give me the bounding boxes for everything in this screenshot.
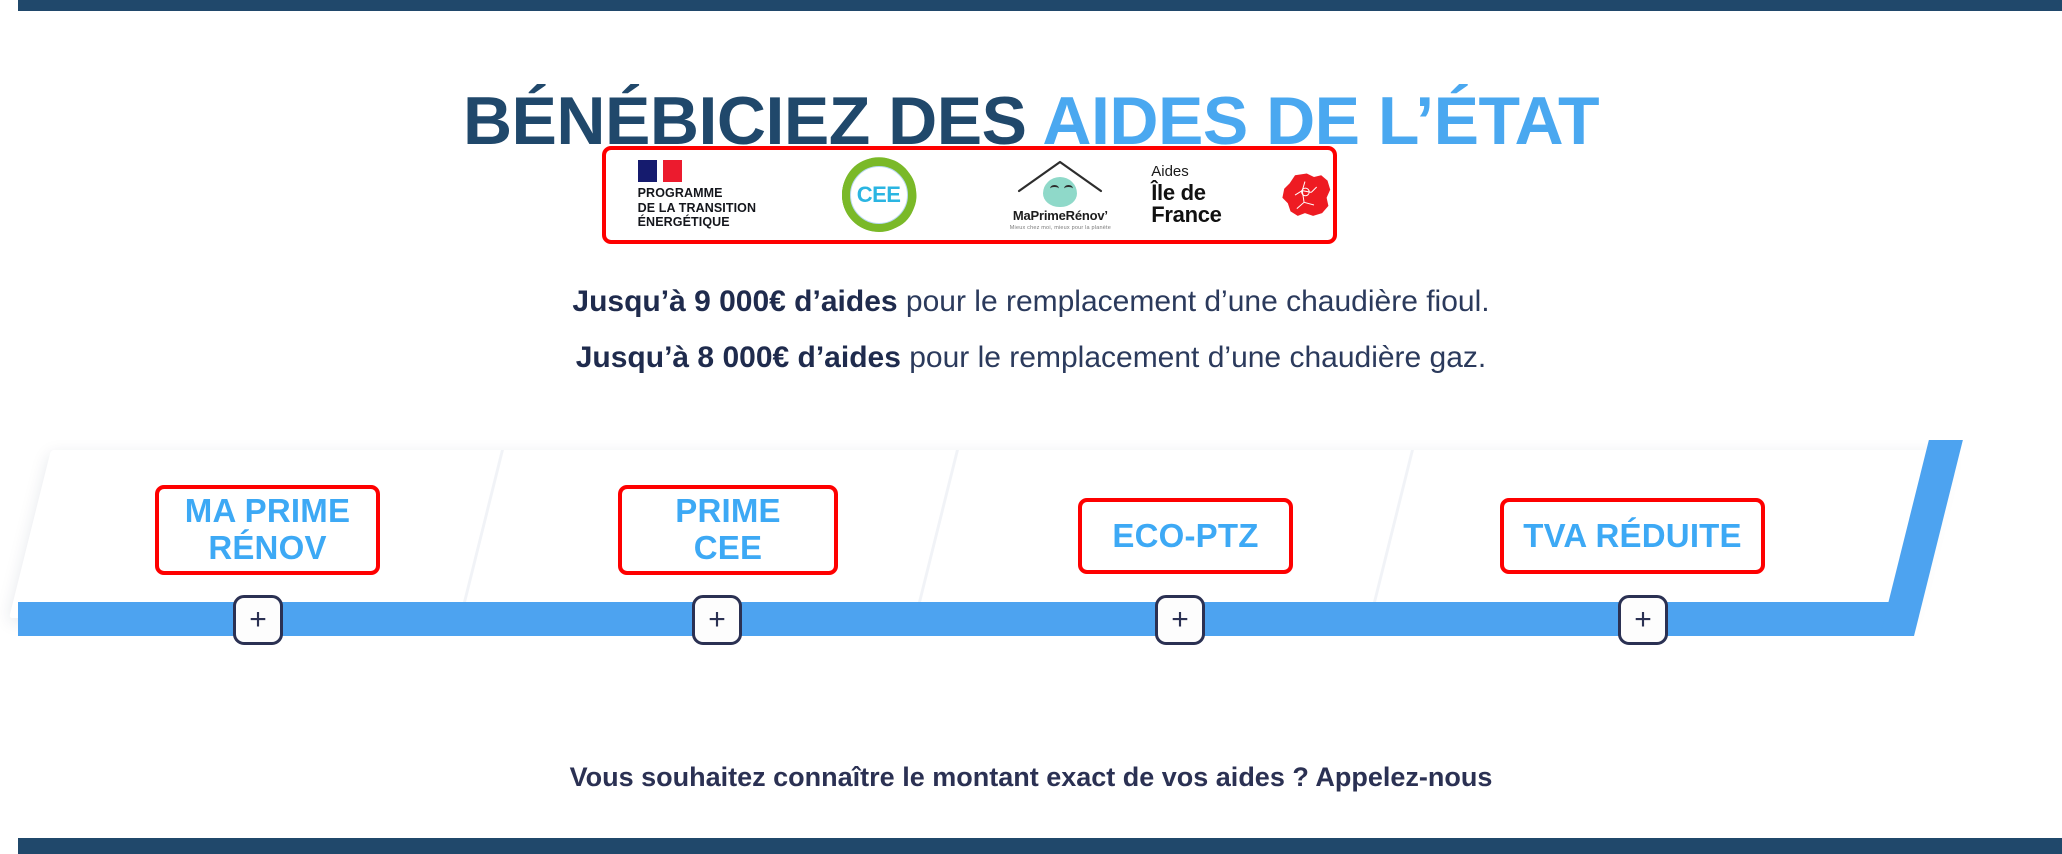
call-to-action-text: Vous souhaitez connaître le montant exac…	[0, 762, 2062, 793]
ile-de-france-map-icon	[1277, 170, 1333, 222]
subtitle-2-rest: pour le remplacement d’une chaudière gaz…	[901, 341, 1486, 374]
logo-maprimerenov: MaPrimeRénov’ Mieux chez moi, mieux pour…	[970, 150, 1152, 240]
aid-card-tva-reduite[interactable]: TVA RÉDUITE	[1500, 498, 1765, 574]
maprimerenov-label: MaPrimeRénov’	[1013, 208, 1108, 223]
logo-cee: CEE	[788, 150, 970, 240]
subtitle-1-rest: pour le remplacement d’une chaudière fio…	[898, 285, 1490, 318]
subtitle-1-amount: Jusqu’à 9 000€ d’aides	[572, 285, 897, 318]
cee-badge-icon: CEE	[842, 158, 916, 232]
aid-card-prime-cee[interactable]: PRIME CEE	[618, 485, 838, 575]
maprimerenov-house-icon	[1017, 159, 1103, 207]
expand-button-tva-reduite[interactable]: +	[1618, 595, 1668, 645]
bottom-divider-bar	[18, 838, 2062, 854]
expand-button-eco-ptz[interactable]: +	[1155, 595, 1205, 645]
logo-aides-ile-de-france: Aides Île de France	[1151, 150, 1333, 240]
expand-button-prime-cee[interactable]: +	[692, 595, 742, 645]
idf-label-small: Aides	[1151, 164, 1269, 179]
idf-label-big: Île de France	[1151, 182, 1269, 226]
subtitle-line-1: Jusqu’à 9 000€ d’aides pour le remplacem…	[0, 285, 2062, 319]
subtitle-line-2: Jusqu’à 8 000€ d’aides pour le remplacem…	[0, 341, 2062, 375]
maprimerenov-tagline: Mieux chez moi, mieux pour la planète	[1010, 225, 1111, 231]
aids-banner: MA PRIME RÉNOV PRIME CEE ECO-PTZ TVA RÉD…	[0, 440, 2062, 665]
cee-label: CEE	[857, 182, 901, 208]
aid-card-eco-ptz[interactable]: ECO-PTZ	[1078, 498, 1293, 574]
top-divider-bar	[18, 0, 2062, 11]
logo-programme-label: PROGRAMME DE LA TRANSITION ÉNERGÉTIQUE	[638, 186, 757, 230]
partner-logos-box: PROGRAMME DE LA TRANSITION ÉNERGÉTIQUE C…	[602, 146, 1337, 244]
subtitle-2-amount: Jusqu’à 8 000€ d’aides	[576, 341, 901, 374]
expand-button-ma-prime-renov[interactable]: +	[233, 595, 283, 645]
french-flag-icon	[638, 160, 757, 182]
aid-card-ma-prime-renov[interactable]: MA PRIME RÉNOV	[155, 485, 380, 575]
logo-programme-transition-energetique: PROGRAMME DE LA TRANSITION ÉNERGÉTIQUE	[606, 150, 788, 240]
